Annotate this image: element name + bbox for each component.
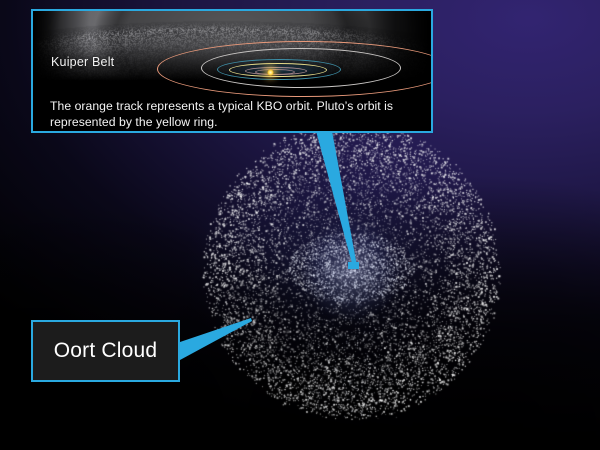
oort-cloud-callout-box: Oort Cloud [31,320,180,382]
inner-orbit-ring-2 [255,69,295,75]
oort-cloud-particles [196,116,506,426]
oort-cloud-label: Oort Cloud [54,339,158,363]
kuiper-belt-label: Kuiper Belt [51,55,114,69]
oort-cloud-sphere [196,116,506,426]
kuiper-belt-caption: The orange track represents a typical KB… [50,99,422,130]
kuiper-belt-inset-panel: Kuiper Belt The orange track represents … [31,9,433,133]
diagram-scene: Kuiper Belt The orange track represents … [0,0,600,450]
sun-icon [267,69,274,76]
